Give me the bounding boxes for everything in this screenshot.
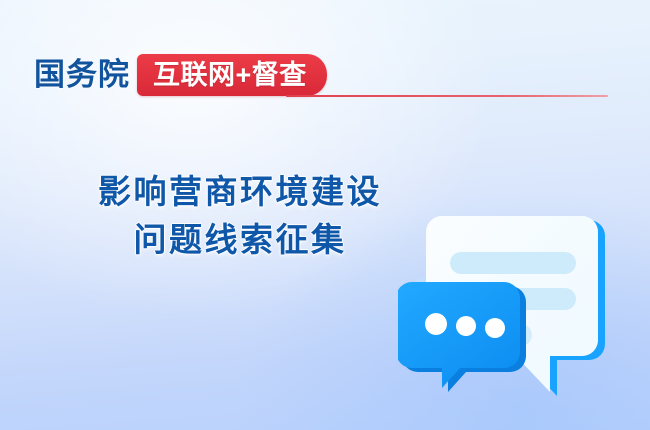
internet-supervision-badge-label: 互联网+督查 <box>153 62 307 89</box>
gov-council-label: 国务院 <box>34 54 130 96</box>
chat-bubbles-illustration <box>398 196 638 406</box>
internet-supervision-badge: 互联网+督查 <box>137 54 327 96</box>
campaign-banner: 国务院 互联网+督查 影响营商环境建设 问题线索征集 <box>0 0 650 430</box>
header-divider-line <box>286 95 608 97</box>
banner-header: 国务院 互联网+督查 <box>34 54 327 96</box>
